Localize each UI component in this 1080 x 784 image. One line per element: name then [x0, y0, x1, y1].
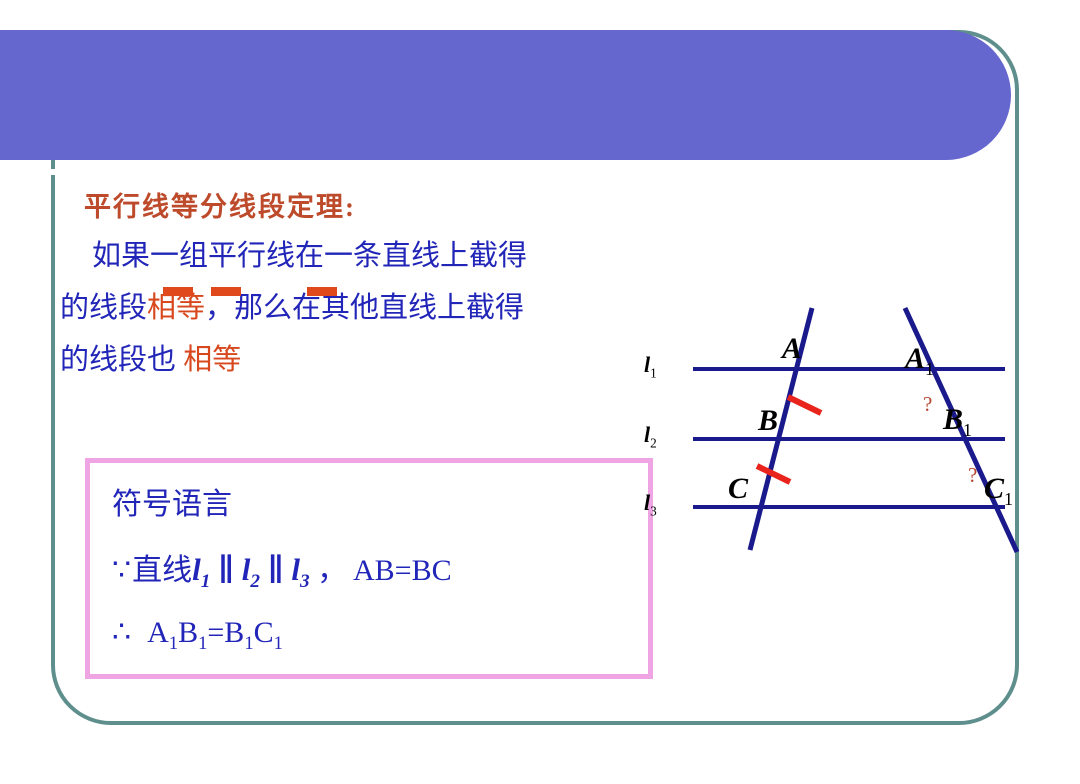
- theorem-line-1: 如果一组平行线在一条直线上截得: [60, 230, 680, 282]
- symbolic-given-line: ∵直线l1 ∥ l2 ∥ l3 ， AB=BC: [112, 545, 648, 593]
- symbolic-language-box: 符号语言 ∵直线l1 ∥ l2 ∥ l3 ， AB=BC ∴ A1B1=B1C1: [85, 458, 653, 679]
- figure-point-c1: C1: [984, 472, 1013, 510]
- figure-point-b1: B1: [943, 403, 972, 441]
- figure-question-mark-a1b1: ?: [923, 392, 932, 417]
- theorem-line-2-prefix: 的线段: [60, 292, 147, 324]
- tick-mark-bc: [757, 466, 790, 482]
- given-text-prefix: 直线: [132, 554, 192, 587]
- figure-question-mark-b1c1: ?: [968, 463, 977, 488]
- figure-point-b: B: [758, 404, 778, 438]
- tick-mark-ab: [788, 397, 821, 413]
- figure-point-a: A: [782, 332, 802, 366]
- parallel-symbol-1: ∥: [218, 552, 234, 587]
- header-banner: [0, 30, 1011, 160]
- figure-label-l2: l2: [644, 422, 657, 451]
- given-l2: l2: [242, 552, 260, 587]
- conclusion-equation: A1B1=B1C1: [147, 616, 283, 649]
- figure-label-l3: l3: [644, 490, 657, 519]
- given-comma: ，: [317, 554, 347, 587]
- theorem-line-3: 的线段也 相等: [60, 334, 680, 386]
- figure-point-c: C: [728, 472, 748, 506]
- theorem-line-3-prefix: 的线段也: [60, 344, 176, 376]
- emphasis-dash: [211, 287, 241, 296]
- emphasis-dash: [163, 287, 193, 296]
- theorem-text-column: 平行线等分线段定理: 如果一组平行线在一条直线上截得 的线段相等，那么在其他直线…: [60, 185, 680, 386]
- theorem-line-1-text: 如果一组平行线在一条直线上截得: [92, 240, 527, 272]
- theorem-line-2: 的线段相等，那么在其他直线上截得: [60, 282, 680, 334]
- theorem-title: 平行线等分线段定理:: [84, 185, 680, 224]
- emphasis-dash-row: [163, 287, 338, 297]
- given-equation: AB=BC: [353, 554, 452, 587]
- geometry-figure: l1 l2 l3 A B C A1 B1 C1 ? ?: [640, 300, 1040, 570]
- geometry-figure-svg: [640, 300, 1040, 570]
- figure-point-a1: A1: [905, 342, 934, 380]
- therefore-symbol: ∴: [112, 616, 132, 649]
- symbolic-conclusion-line: ∴ A1B1=B1C1: [112, 615, 648, 655]
- emphasis-dash: [307, 287, 337, 296]
- given-l3: l3: [291, 552, 309, 587]
- header-rule: [0, 169, 940, 175]
- because-symbol: ∵: [112, 554, 132, 587]
- figure-label-l1: l1: [644, 352, 657, 381]
- theorem-line-3-highlight: 相等: [183, 344, 241, 376]
- parallel-symbol-2: ∥: [267, 552, 283, 587]
- given-l1: l1: [192, 552, 210, 587]
- slide-canvas: 平行线等分线段定理: 如果一组平行线在一条直线上截得 的线段相等，那么在其他直线…: [0, 0, 1080, 784]
- symbolic-language-heading: 符号语言: [112, 479, 648, 523]
